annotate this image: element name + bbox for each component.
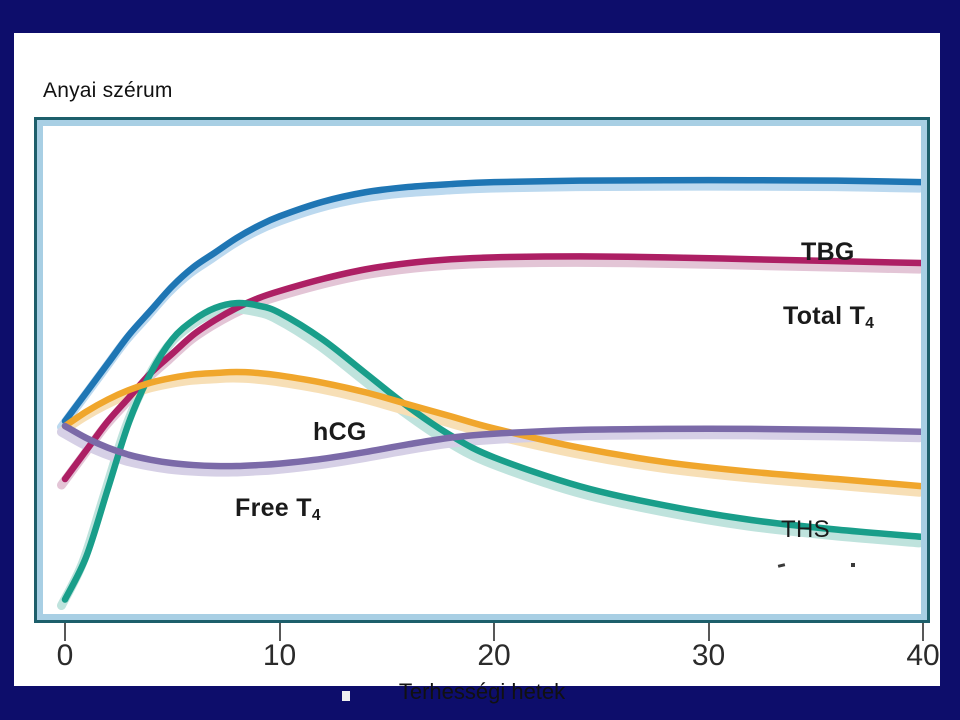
series-label-total-t4: Total T4 — [783, 302, 874, 331]
series-label-tbg: TBG — [801, 238, 855, 267]
series-line-total-t4 — [65, 256, 921, 479]
plot-area: TBG Total T4 hCG Free T4 THS — [43, 126, 921, 614]
x-axis-tick-label: 30 — [692, 639, 725, 673]
x-axis-title: Terhességi hetek — [34, 679, 930, 705]
slide-canvas: Anyai szérum TBG Total T4 hCG Free T4 TH… — [14, 33, 940, 686]
chart-frame: TBG Total T4 hCG Free T4 THS — [34, 117, 930, 623]
series-line-hcg — [65, 303, 921, 600]
series-label-free-t4: Free T4 — [235, 494, 321, 523]
series-label-free-t4-text: Free T — [235, 494, 312, 522]
x-axis-tick-label: 10 — [263, 639, 296, 673]
series-label-hcg: hCG — [313, 418, 367, 447]
series-label-total-t4-text: Total T — [783, 302, 865, 330]
x-axis-tick-label: 40 — [906, 639, 939, 673]
series-label-total-t4-subscript: 4 — [865, 315, 874, 332]
chart-frame-inner-border: TBG Total T4 hCG Free T4 THS — [37, 120, 927, 620]
erased-mark — [342, 691, 350, 701]
slide: Anyai szérum TBG Total T4 hCG Free T4 TH… — [0, 0, 960, 720]
series-label-ths: THS — [781, 516, 830, 544]
x-axis-tick-label: 20 — [477, 639, 510, 673]
erased-label-speck — [851, 563, 855, 567]
series-line-tbg — [65, 180, 921, 421]
series-label-free-t4-subscript: 4 — [312, 507, 321, 524]
page-title: Anyai szérum — [43, 79, 173, 103]
x-axis-tick-label: 0 — [57, 639, 74, 673]
